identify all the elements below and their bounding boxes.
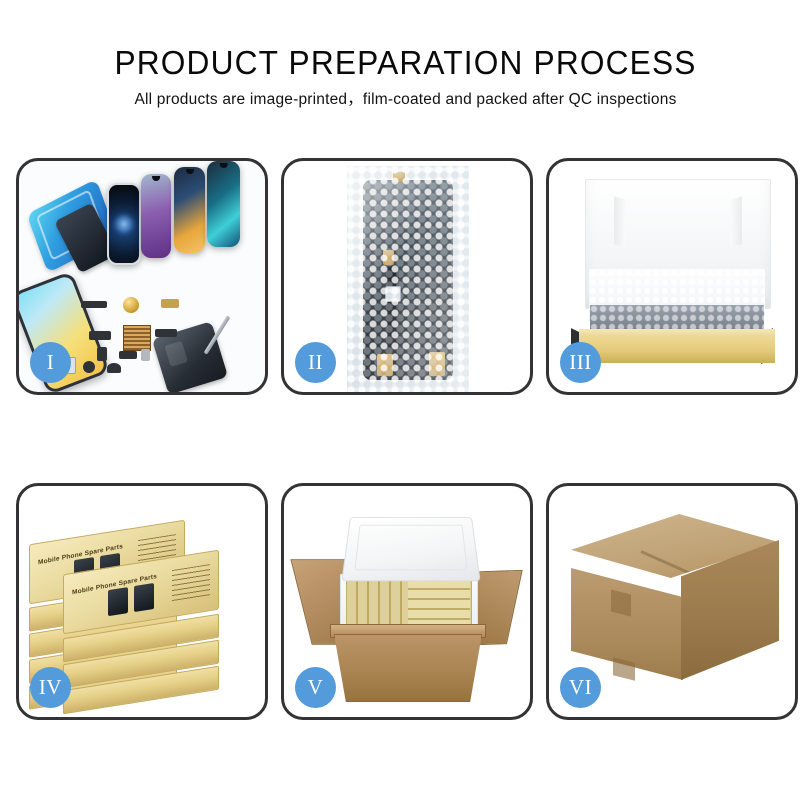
spare-part-icon bbox=[141, 349, 150, 361]
process-step-5: V bbox=[281, 483, 533, 720]
notch-icon bbox=[185, 169, 193, 174]
box-artwork-screen bbox=[108, 587, 128, 616]
gold-boxes-row bbox=[408, 578, 470, 628]
carton-tape-patch bbox=[611, 590, 631, 617]
notch-icon bbox=[219, 163, 228, 168]
step-badge-6: VI bbox=[560, 667, 601, 708]
spare-part-icon bbox=[119, 351, 137, 359]
step-badge-3: III bbox=[560, 342, 601, 383]
process-step-grid: I II bbox=[16, 158, 798, 720]
lid-tab-right bbox=[730, 196, 742, 247]
lid-tab-left bbox=[614, 196, 626, 247]
spare-part-icon bbox=[97, 347, 107, 361]
spare-part-icon bbox=[155, 329, 177, 337]
spare-part-icon bbox=[83, 361, 95, 373]
process-step-1: I bbox=[16, 158, 268, 395]
carton-body bbox=[334, 634, 482, 702]
spare-part-icon bbox=[107, 363, 121, 373]
process-step-6: VI bbox=[546, 483, 798, 720]
page-title: PRODUCT PREPARATION PROCESS bbox=[16, 0, 795, 82]
chip-grid-icon bbox=[123, 325, 151, 351]
step-badge-1: I bbox=[30, 342, 71, 383]
notch-icon bbox=[120, 187, 128, 192]
step-badge-5: V bbox=[295, 667, 336, 708]
phone-orange-icon bbox=[174, 167, 205, 253]
header: PRODUCT PREPARATION PROCESS All products… bbox=[0, 0, 811, 110]
phone-purple-icon bbox=[141, 174, 171, 258]
spare-part-icon bbox=[81, 301, 107, 308]
spare-part-icon bbox=[161, 299, 179, 308]
page-subtitle: All products are image-printed，film-coat… bbox=[0, 82, 811, 110]
notch-icon bbox=[152, 176, 160, 181]
step-badge-4: IV bbox=[30, 667, 71, 708]
plastic-sheen bbox=[347, 166, 469, 392]
process-step-3: III bbox=[546, 158, 798, 395]
process-step-2: II bbox=[281, 158, 533, 395]
phone-teal-icon bbox=[207, 161, 240, 247]
box-artwork-screen bbox=[134, 583, 154, 612]
box-spec-text-lines bbox=[172, 564, 210, 602]
spare-part-icon bbox=[89, 331, 111, 340]
gold-box-front bbox=[579, 337, 775, 363]
bubble-wrap-bag bbox=[347, 166, 469, 392]
step-badge-2: II bbox=[295, 342, 336, 383]
phone-black-icon bbox=[107, 183, 141, 265]
foam-box-lid bbox=[341, 517, 480, 581]
process-step-4: Mobile Phone Spare Parts Mobile Phone Sp… bbox=[16, 483, 268, 720]
product-preparation-infographic: PRODUCT PREPARATION PROCESS All products… bbox=[0, 0, 811, 811]
gold-component-icon bbox=[123, 297, 139, 313]
